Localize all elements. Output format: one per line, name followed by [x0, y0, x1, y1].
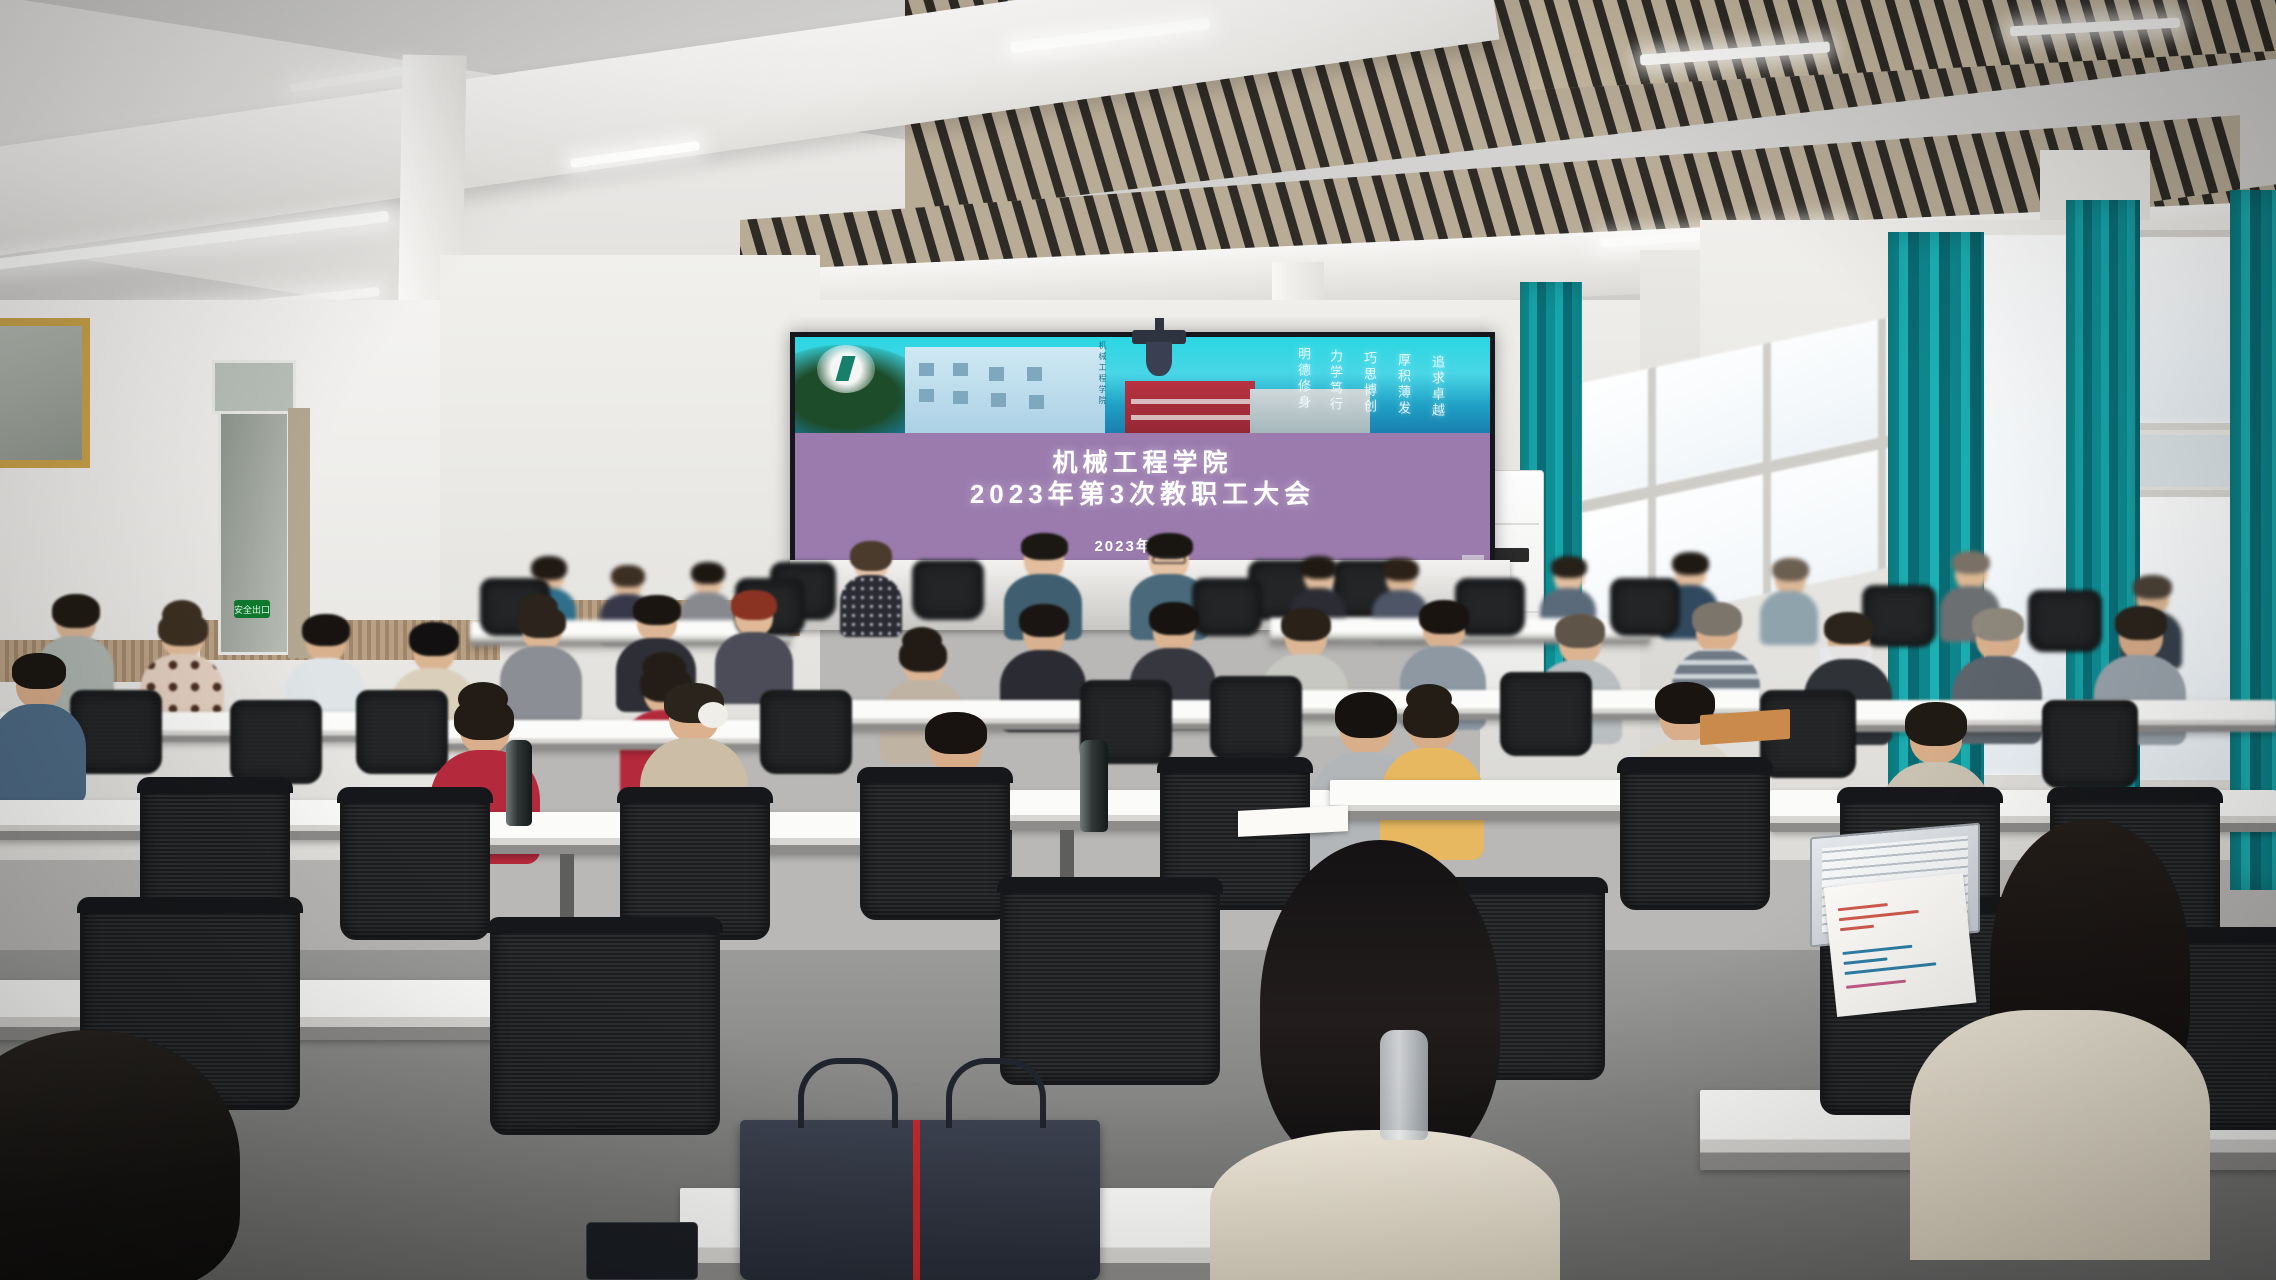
led-title-line2: 2023年第3次教职工大会	[795, 479, 1490, 510]
notebook[interactable]	[1700, 709, 1790, 745]
chart-papers[interactable]	[1824, 873, 1977, 1017]
chair-mid-2	[230, 700, 322, 784]
chair-mid-6	[1210, 676, 1302, 760]
desk-mid-edge-right	[1790, 700, 2276, 732]
side-door[interactable]	[218, 410, 290, 655]
foreground-person-bottom-left	[0, 1030, 250, 1280]
banner-building-red	[1125, 381, 1255, 433]
banner-building-sign: 机械工程学院	[1097, 341, 1108, 433]
led-banner-photo: 机械工程学院 明德修身 力学笃行 巧思博创 厚积薄发 追求卓越	[795, 337, 1490, 433]
handbag-handle-left	[798, 1058, 898, 1128]
chair-mid-9	[2042, 700, 2138, 788]
handbag[interactable]	[740, 1120, 1100, 1280]
thermos-bottle[interactable]	[1080, 740, 1108, 832]
meeting-room-photo: 安全出口	[0, 0, 2276, 1280]
chair-closest-3	[1000, 880, 1220, 1085]
chair-mid-7	[1500, 672, 1592, 756]
chair-closest-2	[490, 920, 720, 1135]
audience-person-m7	[715, 596, 793, 700]
chair-front-2	[340, 790, 490, 940]
chair-mid-4	[760, 690, 852, 774]
handbag-stripe	[913, 1120, 920, 1280]
led-title-line1: 机械工程学院	[795, 449, 1490, 479]
door-transom	[212, 360, 296, 414]
banner-emblem	[817, 345, 875, 393]
handbag-handle-right	[946, 1058, 1046, 1128]
calligraphy-col-5: 追求卓越	[1427, 355, 1446, 425]
audience-person-yellow	[1380, 700, 1484, 856]
audience-person-n1	[0, 660, 86, 800]
chair-front-4	[860, 770, 1010, 920]
calligraphy-col-3: 巧思博创	[1359, 351, 1378, 421]
chair-front-6	[1620, 760, 1770, 910]
wall-window-left	[0, 318, 90, 468]
exit-sign: 安全出口	[234, 600, 270, 618]
calligraphy-col-4: 厚积薄发	[1393, 353, 1412, 423]
banner-building-blue	[905, 347, 1105, 433]
ceiling-camera	[1146, 342, 1172, 376]
water-bottle-clear[interactable]	[1380, 1030, 1428, 1140]
curtain-far-right-panel[interactable]	[2230, 190, 2276, 890]
foreground-woman-blouse	[1210, 1130, 1560, 1280]
calligraphy-col-1: 明德修身	[1293, 347, 1312, 417]
smartphone[interactable]	[586, 1222, 698, 1280]
thermos-bottle-2[interactable]	[506, 740, 532, 826]
calligraphy-col-2: 力学笃行	[1325, 349, 1344, 419]
presidium-person-left	[840, 545, 902, 635]
